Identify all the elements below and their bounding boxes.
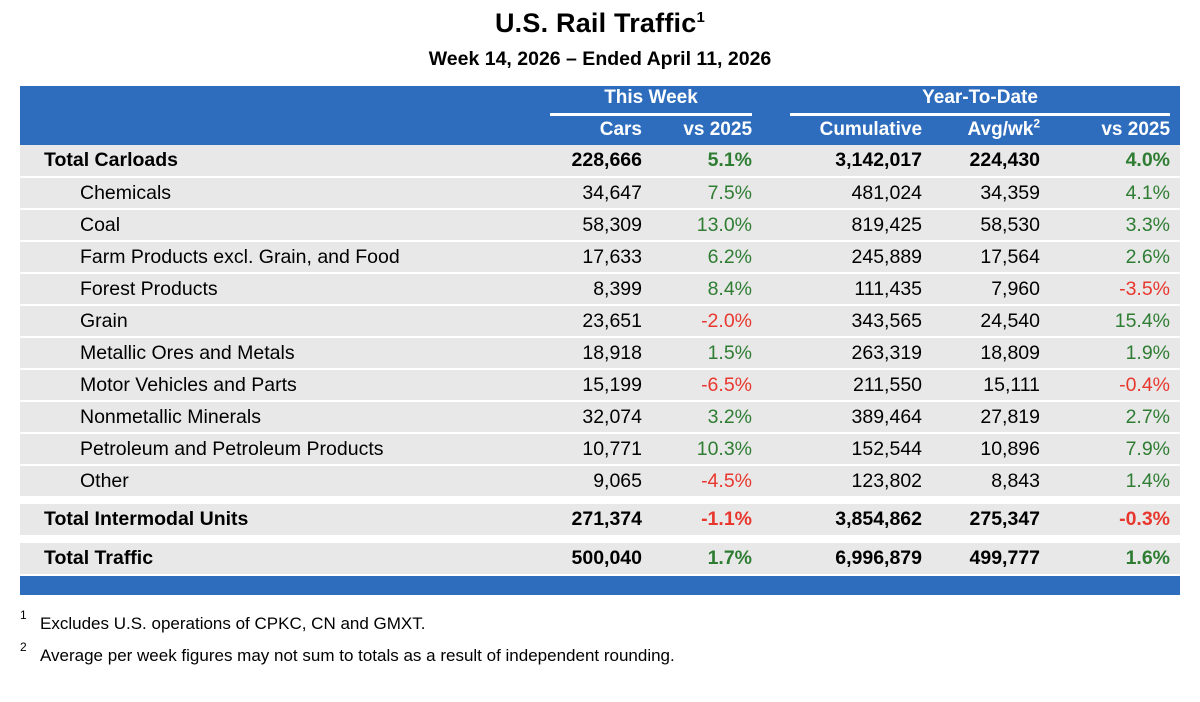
- row-ytd-vs-2025: 1.4%: [1050, 465, 1180, 497]
- header-gap-cell: [762, 86, 780, 116]
- row-ytd-vs-2025-value: 2.6%: [1126, 246, 1170, 268]
- row-cars-value: 58,309: [582, 214, 642, 236]
- row-gap: [762, 273, 780, 305]
- row-cumulative-value: 389,464: [852, 406, 923, 428]
- table-row: Farm Products excl. Grain, and Food17,63…: [20, 241, 1180, 273]
- row-label-value: Metallic Ores and Metals: [80, 342, 295, 364]
- row-label: Grain: [20, 305, 540, 337]
- row-cumulative-value: 123,802: [852, 470, 923, 492]
- row-cars: 500,040: [540, 543, 652, 575]
- row-label-value: Coal: [80, 214, 120, 236]
- row-week-vs-2025: 13.0%: [652, 209, 762, 241]
- row-avg-per-week: 17,564: [930, 241, 1050, 273]
- row-avg-per-week-value: 275,347: [970, 508, 1041, 530]
- row-label-value: Forest Products: [80, 278, 218, 300]
- row-cars-value: 15,199: [582, 374, 642, 396]
- row-week-vs-2025: 3.2%: [652, 401, 762, 433]
- row-ytd-vs-2025: 4.1%: [1050, 177, 1180, 209]
- row-gap: [762, 145, 780, 177]
- row-cars: 10,771: [540, 433, 652, 465]
- row-ytd-vs-2025-value: 2.7%: [1126, 406, 1170, 428]
- row-gap: [762, 465, 780, 497]
- row-cumulative-value: 819,425: [852, 214, 923, 236]
- row-avg-per-week-value: 24,540: [980, 310, 1040, 332]
- row-week-vs-2025-value: -1.1%: [701, 508, 752, 530]
- row-cumulative-value: 3,142,017: [835, 149, 922, 171]
- footnote-marker: 2: [20, 638, 27, 657]
- row-week-vs-2025-value: 1.7%: [708, 547, 752, 569]
- row-cars-value: 34,647: [582, 182, 642, 204]
- table-row-spacer-cell: [20, 536, 1180, 543]
- row-cars: 32,074: [540, 401, 652, 433]
- row-avg-per-week-value: 58,530: [980, 214, 1040, 236]
- row-cumulative-value: 6,996,879: [835, 547, 922, 569]
- row-gap: [762, 177, 780, 209]
- row-ytd-vs-2025: 2.6%: [1050, 241, 1180, 273]
- row-cars: 271,374: [540, 504, 652, 536]
- row-week-vs-2025-value: 8.4%: [708, 278, 752, 300]
- row-avg-per-week-value: 18,809: [980, 342, 1040, 364]
- footnote: 2Average per week figures may not sum to…: [20, 643, 1180, 669]
- rail-traffic-report: U.S. Rail Traffic1 Week 14, 2026 – Ended…: [0, 0, 1200, 702]
- row-week-vs-2025-value: -4.5%: [701, 470, 752, 492]
- row-cumulative: 263,319: [780, 337, 930, 369]
- table-row: Forest Products8,3998.4%111,4357,960-3.5…: [20, 273, 1180, 305]
- table-row: Total Intermodal Units271,374-1.1%3,854,…: [20, 504, 1180, 536]
- table-row: Grain23,651-2.0%343,56524,54015.4%: [20, 305, 1180, 337]
- table-body: Total Carloads228,6665.1%3,142,017224,43…: [20, 145, 1180, 575]
- footnote-marker: 1: [20, 606, 27, 625]
- header-group-year-to-date-label: Year-To-Date: [780, 87, 1180, 113]
- row-avg-per-week-value: 7,960: [991, 278, 1040, 300]
- header-spacer-cell: [20, 86, 540, 116]
- table-row: Total Carloads228,6665.1%3,142,017224,43…: [20, 145, 1180, 177]
- row-avg-per-week-value: 8,843: [991, 470, 1040, 492]
- table-header-column-row: Cars vs 2025 Cumulative Avg/wk2 vs 2025: [20, 116, 1180, 145]
- table-row-spacer: [20, 497, 1180, 504]
- rail-traffic-table: This Week Year-To-Date Cars vs 2025 Cumu…: [20, 86, 1180, 576]
- row-avg-per-week: 224,430: [930, 145, 1050, 177]
- row-cars: 23,651: [540, 305, 652, 337]
- row-ytd-vs-2025: 4.0%: [1050, 145, 1180, 177]
- row-week-vs-2025-value: 6.2%: [708, 246, 752, 268]
- table-row: Metallic Ores and Metals18,9181.5%263,31…: [20, 337, 1180, 369]
- row-cars: 8,399: [540, 273, 652, 305]
- table-header: This Week Year-To-Date Cars vs 2025 Cumu…: [20, 86, 1180, 145]
- row-gap: [762, 401, 780, 433]
- row-label: Nonmetallic Minerals: [20, 401, 540, 433]
- row-ytd-vs-2025-value: 1.4%: [1126, 470, 1170, 492]
- row-avg-per-week-value: 17,564: [980, 246, 1040, 268]
- row-ytd-vs-2025-value: 15.4%: [1115, 310, 1170, 332]
- header-label-column: [20, 116, 540, 145]
- header-column-avg-per-week: Avg/wk2: [930, 116, 1050, 145]
- row-ytd-vs-2025-value: -0.4%: [1119, 374, 1170, 396]
- row-label: Chemicals: [20, 177, 540, 209]
- table-row: Chemicals34,6477.5%481,02434,3594.1%: [20, 177, 1180, 209]
- row-week-vs-2025-value: -2.0%: [701, 310, 752, 332]
- table-row-spacer: [20, 536, 1180, 543]
- table-header-group-row: This Week Year-To-Date: [20, 86, 1180, 116]
- row-week-vs-2025: 10.3%: [652, 433, 762, 465]
- row-week-vs-2025: -4.5%: [652, 465, 762, 497]
- row-week-vs-2025: 5.1%: [652, 145, 762, 177]
- row-week-vs-2025-value: 1.5%: [708, 342, 752, 364]
- row-cumulative: 481,024: [780, 177, 930, 209]
- row-cars-value: 32,074: [582, 406, 642, 428]
- row-avg-per-week: 10,896: [930, 433, 1050, 465]
- row-label: Petroleum and Petroleum Products: [20, 433, 540, 465]
- row-label-value: Petroleum and Petroleum Products: [80, 438, 384, 460]
- header-column-avg-per-week-text: Avg/wk: [968, 119, 1034, 140]
- title-block: U.S. Rail Traffic1 Week 14, 2026 – Ended…: [0, 0, 1200, 70]
- row-avg-per-week-value: 224,430: [970, 149, 1041, 171]
- row-ytd-vs-2025: -0.3%: [1050, 504, 1180, 536]
- row-label-value: Other: [80, 470, 129, 492]
- footnote-text: Average per week figures may not sum to …: [40, 646, 675, 665]
- row-cumulative: 343,565: [780, 305, 930, 337]
- row-label-value: Total Intermodal Units: [44, 508, 248, 530]
- table-row: Coal58,30913.0%819,42558,5303.3%: [20, 209, 1180, 241]
- row-avg-per-week: 58,530: [930, 209, 1050, 241]
- row-week-vs-2025: 6.2%: [652, 241, 762, 273]
- table-row: Nonmetallic Minerals32,0743.2%389,46427,…: [20, 401, 1180, 433]
- row-cumulative: 245,889: [780, 241, 930, 273]
- row-cars: 34,647: [540, 177, 652, 209]
- row-avg-per-week: 15,111: [930, 369, 1050, 401]
- row-avg-per-week: 7,960: [930, 273, 1050, 305]
- row-cars: 17,633: [540, 241, 652, 273]
- row-avg-per-week: 27,819: [930, 401, 1050, 433]
- row-cars-value: 17,633: [582, 246, 642, 268]
- footnote: 1Excludes U.S. operations of CPKC, CN an…: [20, 611, 1180, 637]
- row-label-value: Nonmetallic Minerals: [80, 406, 261, 428]
- row-cumulative: 819,425: [780, 209, 930, 241]
- row-cars-value: 500,040: [572, 547, 643, 569]
- footnote-text: Excludes U.S. operations of CPKC, CN and…: [40, 614, 426, 633]
- row-cumulative: 111,435: [780, 273, 930, 305]
- row-label-value: Chemicals: [80, 182, 171, 204]
- row-label-value: Motor Vehicles and Parts: [80, 374, 297, 396]
- row-avg-per-week: 275,347: [930, 504, 1050, 536]
- row-gap: [762, 504, 780, 536]
- row-cumulative: 152,544: [780, 433, 930, 465]
- row-week-vs-2025-value: 13.0%: [697, 214, 752, 236]
- row-ytd-vs-2025-value: 4.1%: [1126, 182, 1170, 204]
- row-label: Farm Products excl. Grain, and Food: [20, 241, 540, 273]
- row-ytd-vs-2025: 1.6%: [1050, 543, 1180, 575]
- row-cumulative-value: 211,550: [853, 374, 922, 396]
- row-ytd-vs-2025: -0.4%: [1050, 369, 1180, 401]
- row-cumulative-value: 111,435: [854, 278, 922, 300]
- row-week-vs-2025-value: 10.3%: [697, 438, 752, 460]
- row-ytd-vs-2025: 15.4%: [1050, 305, 1180, 337]
- row-ytd-vs-2025-value: 1.9%: [1126, 342, 1170, 364]
- row-label: Coal: [20, 209, 540, 241]
- row-ytd-vs-2025: -3.5%: [1050, 273, 1180, 305]
- row-ytd-vs-2025-value: 7.9%: [1126, 438, 1170, 460]
- row-cumulative-value: 245,889: [852, 246, 923, 268]
- table-row-spacer-cell: [20, 497, 1180, 504]
- row-label-value: Farm Products excl. Grain, and Food: [80, 246, 400, 268]
- row-week-vs-2025: 1.5%: [652, 337, 762, 369]
- row-cars-value: 228,666: [572, 149, 643, 171]
- row-cars: 18,918: [540, 337, 652, 369]
- row-avg-per-week-value: 15,111: [983, 374, 1040, 396]
- row-cumulative: 3,142,017: [780, 145, 930, 177]
- row-week-vs-2025: 1.7%: [652, 543, 762, 575]
- row-week-vs-2025: -2.0%: [652, 305, 762, 337]
- header-group-this-week: This Week: [540, 86, 762, 116]
- row-gap: [762, 209, 780, 241]
- row-week-vs-2025-value: 5.1%: [708, 149, 752, 171]
- row-week-vs-2025: 8.4%: [652, 273, 762, 305]
- header-group-year-to-date: Year-To-Date: [780, 86, 1180, 116]
- row-avg-per-week: 8,843: [930, 465, 1050, 497]
- page-title-text: U.S. Rail Traffic: [495, 8, 696, 38]
- row-cumulative-value: 481,024: [852, 182, 923, 204]
- table-footer-bar: [20, 576, 1180, 595]
- row-avg-per-week: 18,809: [930, 337, 1050, 369]
- page-title: U.S. Rail Traffic1: [0, 9, 1200, 39]
- row-label: Metallic Ores and Metals: [20, 337, 540, 369]
- row-label: Total Intermodal Units: [20, 504, 540, 536]
- row-cars-value: 8,399: [593, 278, 642, 300]
- row-label-value: Grain: [80, 310, 128, 332]
- row-label: Other: [20, 465, 540, 497]
- row-label: Total Carloads: [20, 145, 540, 177]
- row-week-vs-2025: -1.1%: [652, 504, 762, 536]
- row-gap: [762, 433, 780, 465]
- row-label: Motor Vehicles and Parts: [20, 369, 540, 401]
- row-avg-per-week: 34,359: [930, 177, 1050, 209]
- row-cumulative: 123,802: [780, 465, 930, 497]
- table-row: Motor Vehicles and Parts15,199-6.5%211,5…: [20, 369, 1180, 401]
- row-avg-per-week-value: 10,896: [980, 438, 1040, 460]
- row-ytd-vs-2025-value: 1.6%: [1126, 547, 1170, 569]
- rail-traffic-table-wrap: This Week Year-To-Date Cars vs 2025 Cumu…: [20, 86, 1180, 576]
- row-gap: [762, 369, 780, 401]
- page-title-footnote-marker: 1: [696, 9, 705, 26]
- row-gap: [762, 241, 780, 273]
- header-column-cumulative: Cumulative: [780, 116, 930, 145]
- row-week-vs-2025: -6.5%: [652, 369, 762, 401]
- row-cumulative-value: 263,319: [852, 342, 923, 364]
- row-cars: 58,309: [540, 209, 652, 241]
- row-cumulative-value: 152,544: [852, 438, 923, 460]
- row-gap: [762, 305, 780, 337]
- row-ytd-vs-2025-value: 3.3%: [1126, 214, 1170, 236]
- row-ytd-vs-2025: 7.9%: [1050, 433, 1180, 465]
- row-cumulative: 3,854,862: [780, 504, 930, 536]
- row-ytd-vs-2025-value: -0.3%: [1119, 508, 1170, 530]
- page-subtitle: Week 14, 2026 – Ended April 11, 2026: [0, 49, 1200, 70]
- row-cars-value: 23,651: [582, 310, 642, 332]
- table-row: Total Traffic500,0401.7%6,996,879499,777…: [20, 543, 1180, 575]
- row-cars-value: 271,374: [572, 508, 643, 530]
- row-cumulative: 389,464: [780, 401, 930, 433]
- row-week-vs-2025: 7.5%: [652, 177, 762, 209]
- row-cumulative-value: 343,565: [852, 310, 923, 332]
- row-cars: 228,666: [540, 145, 652, 177]
- row-avg-per-week-value: 34,359: [980, 182, 1040, 204]
- row-avg-per-week: 24,540: [930, 305, 1050, 337]
- footnotes: 1Excludes U.S. operations of CPKC, CN an…: [20, 611, 1180, 670]
- header-column-cars: Cars: [540, 116, 652, 145]
- row-ytd-vs-2025-value: 4.0%: [1126, 149, 1170, 171]
- row-cumulative-value: 3,854,862: [835, 508, 922, 530]
- header-gap-cell-2: [762, 116, 780, 145]
- row-gap: [762, 543, 780, 575]
- row-avg-per-week: 499,777: [930, 543, 1050, 575]
- row-ytd-vs-2025-value: -3.5%: [1119, 278, 1170, 300]
- row-cars-value: 10,771: [582, 438, 642, 460]
- row-ytd-vs-2025: 2.7%: [1050, 401, 1180, 433]
- row-label-value: Total Carloads: [44, 149, 178, 171]
- row-cars: 9,065: [540, 465, 652, 497]
- row-cumulative: 211,550: [780, 369, 930, 401]
- header-column-week-vs-2025: vs 2025: [652, 116, 762, 145]
- table-row: Other9,065-4.5%123,8028,8431.4%: [20, 465, 1180, 497]
- row-ytd-vs-2025: 1.9%: [1050, 337, 1180, 369]
- row-cumulative: 6,996,879: [780, 543, 930, 575]
- row-cars-value: 18,918: [582, 342, 642, 364]
- header-column-avg-per-week-footnote-marker: 2: [1033, 117, 1040, 131]
- row-cars: 15,199: [540, 369, 652, 401]
- row-cars-value: 9,065: [593, 470, 642, 492]
- row-ytd-vs-2025: 3.3%: [1050, 209, 1180, 241]
- row-label-value: Total Traffic: [44, 547, 153, 569]
- row-avg-per-week-value: 27,819: [980, 406, 1040, 428]
- header-column-ytd-vs-2025: vs 2025: [1050, 116, 1180, 145]
- row-gap: [762, 337, 780, 369]
- row-week-vs-2025-value: -6.5%: [701, 374, 752, 396]
- row-week-vs-2025-value: 7.5%: [708, 182, 752, 204]
- table-row: Petroleum and Petroleum Products10,77110…: [20, 433, 1180, 465]
- row-week-vs-2025-value: 3.2%: [708, 406, 752, 428]
- row-label: Total Traffic: [20, 543, 540, 575]
- header-group-this-week-label: This Week: [540, 87, 762, 113]
- row-avg-per-week-value: 499,777: [970, 547, 1041, 569]
- row-label: Forest Products: [20, 273, 540, 305]
